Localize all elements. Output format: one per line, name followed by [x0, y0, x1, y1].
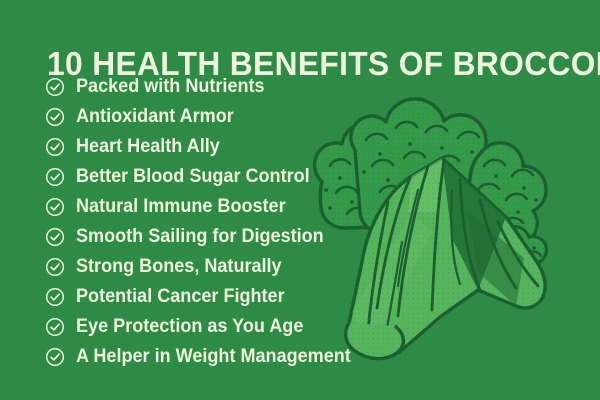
list-item-label: Heart Health Ally — [76, 137, 220, 157]
check-circle-icon — [45, 137, 65, 157]
list-item-label: Strong Bones, Naturally — [76, 257, 282, 277]
list-item[interactable]: Packed with Nutrients — [45, 72, 365, 102]
check-circle-icon — [45, 257, 65, 277]
list-item[interactable]: Heart Health Ally — [45, 132, 365, 162]
list-item-label: Antioxidant Armor — [76, 107, 234, 127]
list-item[interactable]: Antioxidant Armor — [45, 102, 365, 132]
list-item[interactable]: Smooth Sailing for Digestion — [45, 222, 365, 252]
list-item[interactable]: A Helper in Weight Management — [45, 342, 365, 372]
list-item[interactable]: Better Blood Sugar Control — [45, 162, 365, 192]
check-circle-icon — [45, 347, 65, 367]
list-item-label: Smooth Sailing for Digestion — [76, 227, 324, 247]
check-circle-icon — [45, 287, 65, 307]
check-circle-icon — [45, 107, 65, 127]
check-circle-icon — [45, 77, 65, 97]
list-item-label: Potential Cancer Fighter — [76, 287, 285, 307]
list-item[interactable]: Natural Immune Booster — [45, 192, 365, 222]
list-item-label: Eye Protection as You Age — [76, 317, 303, 337]
check-circle-icon — [45, 197, 65, 217]
list-item[interactable]: Eye Protection as You Age — [45, 312, 365, 342]
check-circle-icon — [45, 167, 65, 187]
check-circle-icon — [45, 317, 65, 337]
check-circle-icon — [45, 227, 65, 247]
infographic-canvas: 10 HEALTH BENEFITS OF BROCCOLI — [0, 0, 600, 400]
list-item-label: A Helper in Weight Management — [76, 347, 351, 367]
benefits-list: Packed with Nutrients Antioxidant Armor … — [45, 72, 365, 372]
list-item[interactable]: Potential Cancer Fighter — [45, 282, 365, 312]
list-item-label: Natural Immune Booster — [76, 197, 286, 217]
list-item-label: Better Blood Sugar Control — [76, 167, 310, 187]
list-item-label: Packed with Nutrients — [76, 77, 265, 97]
list-item[interactable]: Strong Bones, Naturally — [45, 252, 365, 282]
